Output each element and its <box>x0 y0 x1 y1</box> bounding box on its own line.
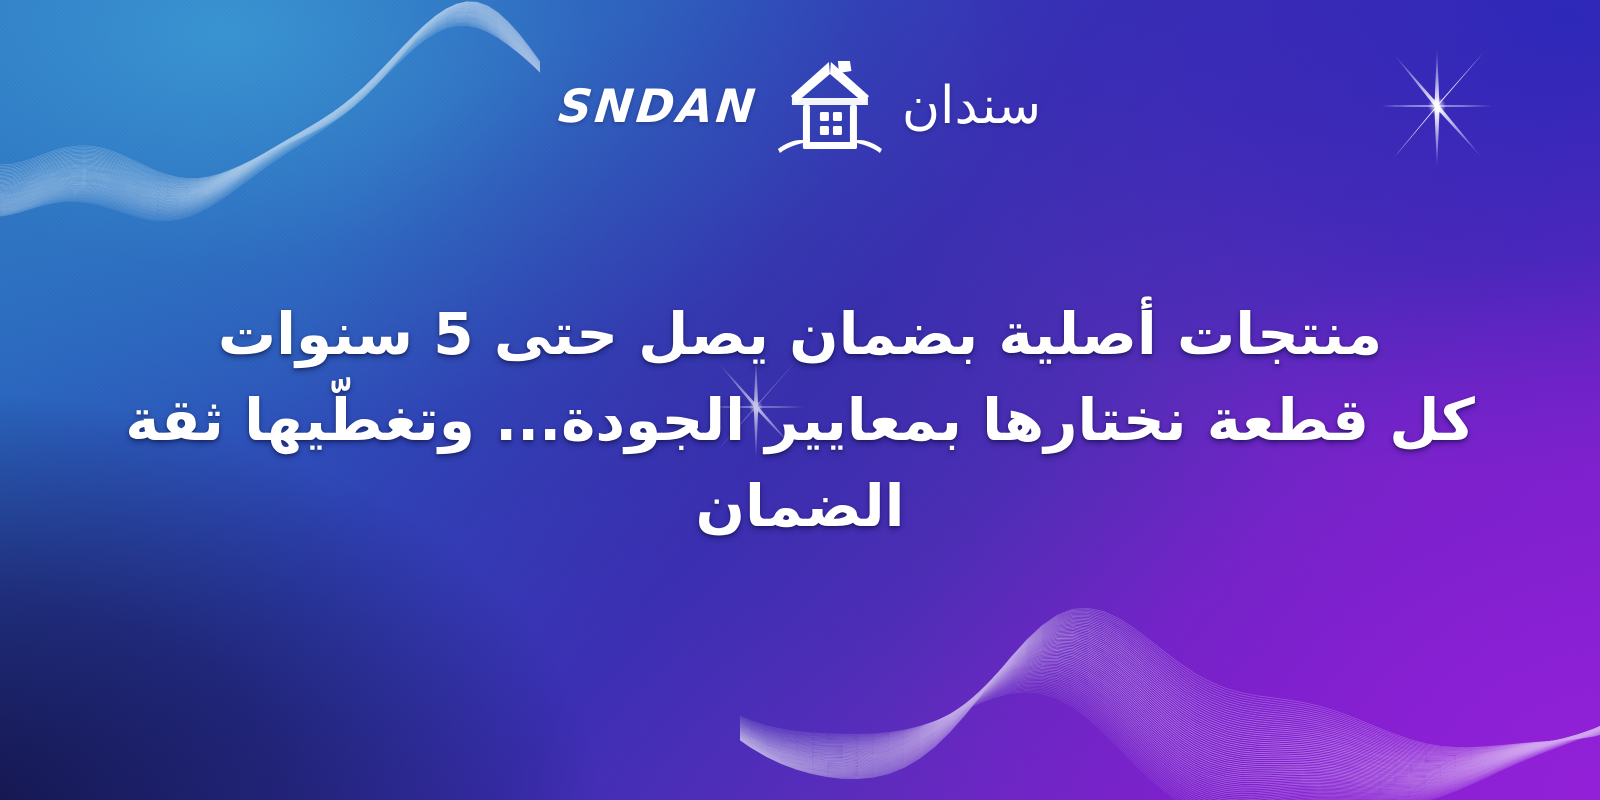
house-icon <box>776 56 884 156</box>
brand-logo[interactable]: SNDAN <box>559 56 1041 156</box>
headline-line-2: كل قطعة نختارها بمعايير الجودة... وتغطّي… <box>85 378 1515 464</box>
brand-arabic-wordmark: سندان <box>902 80 1041 132</box>
banner-canvas: SNDAN <box>0 0 1600 800</box>
headline-line-1: منتجات أصلية بضمان يصل حتى 5 سنوات <box>85 292 1515 378</box>
headline-line-3: الضمان <box>85 464 1515 550</box>
headline-text: منتجات أصلية بضمان يصل حتى 5 سنوات كل قط… <box>85 292 1515 549</box>
brand-latin-wordmark: SNDAN <box>557 83 761 129</box>
